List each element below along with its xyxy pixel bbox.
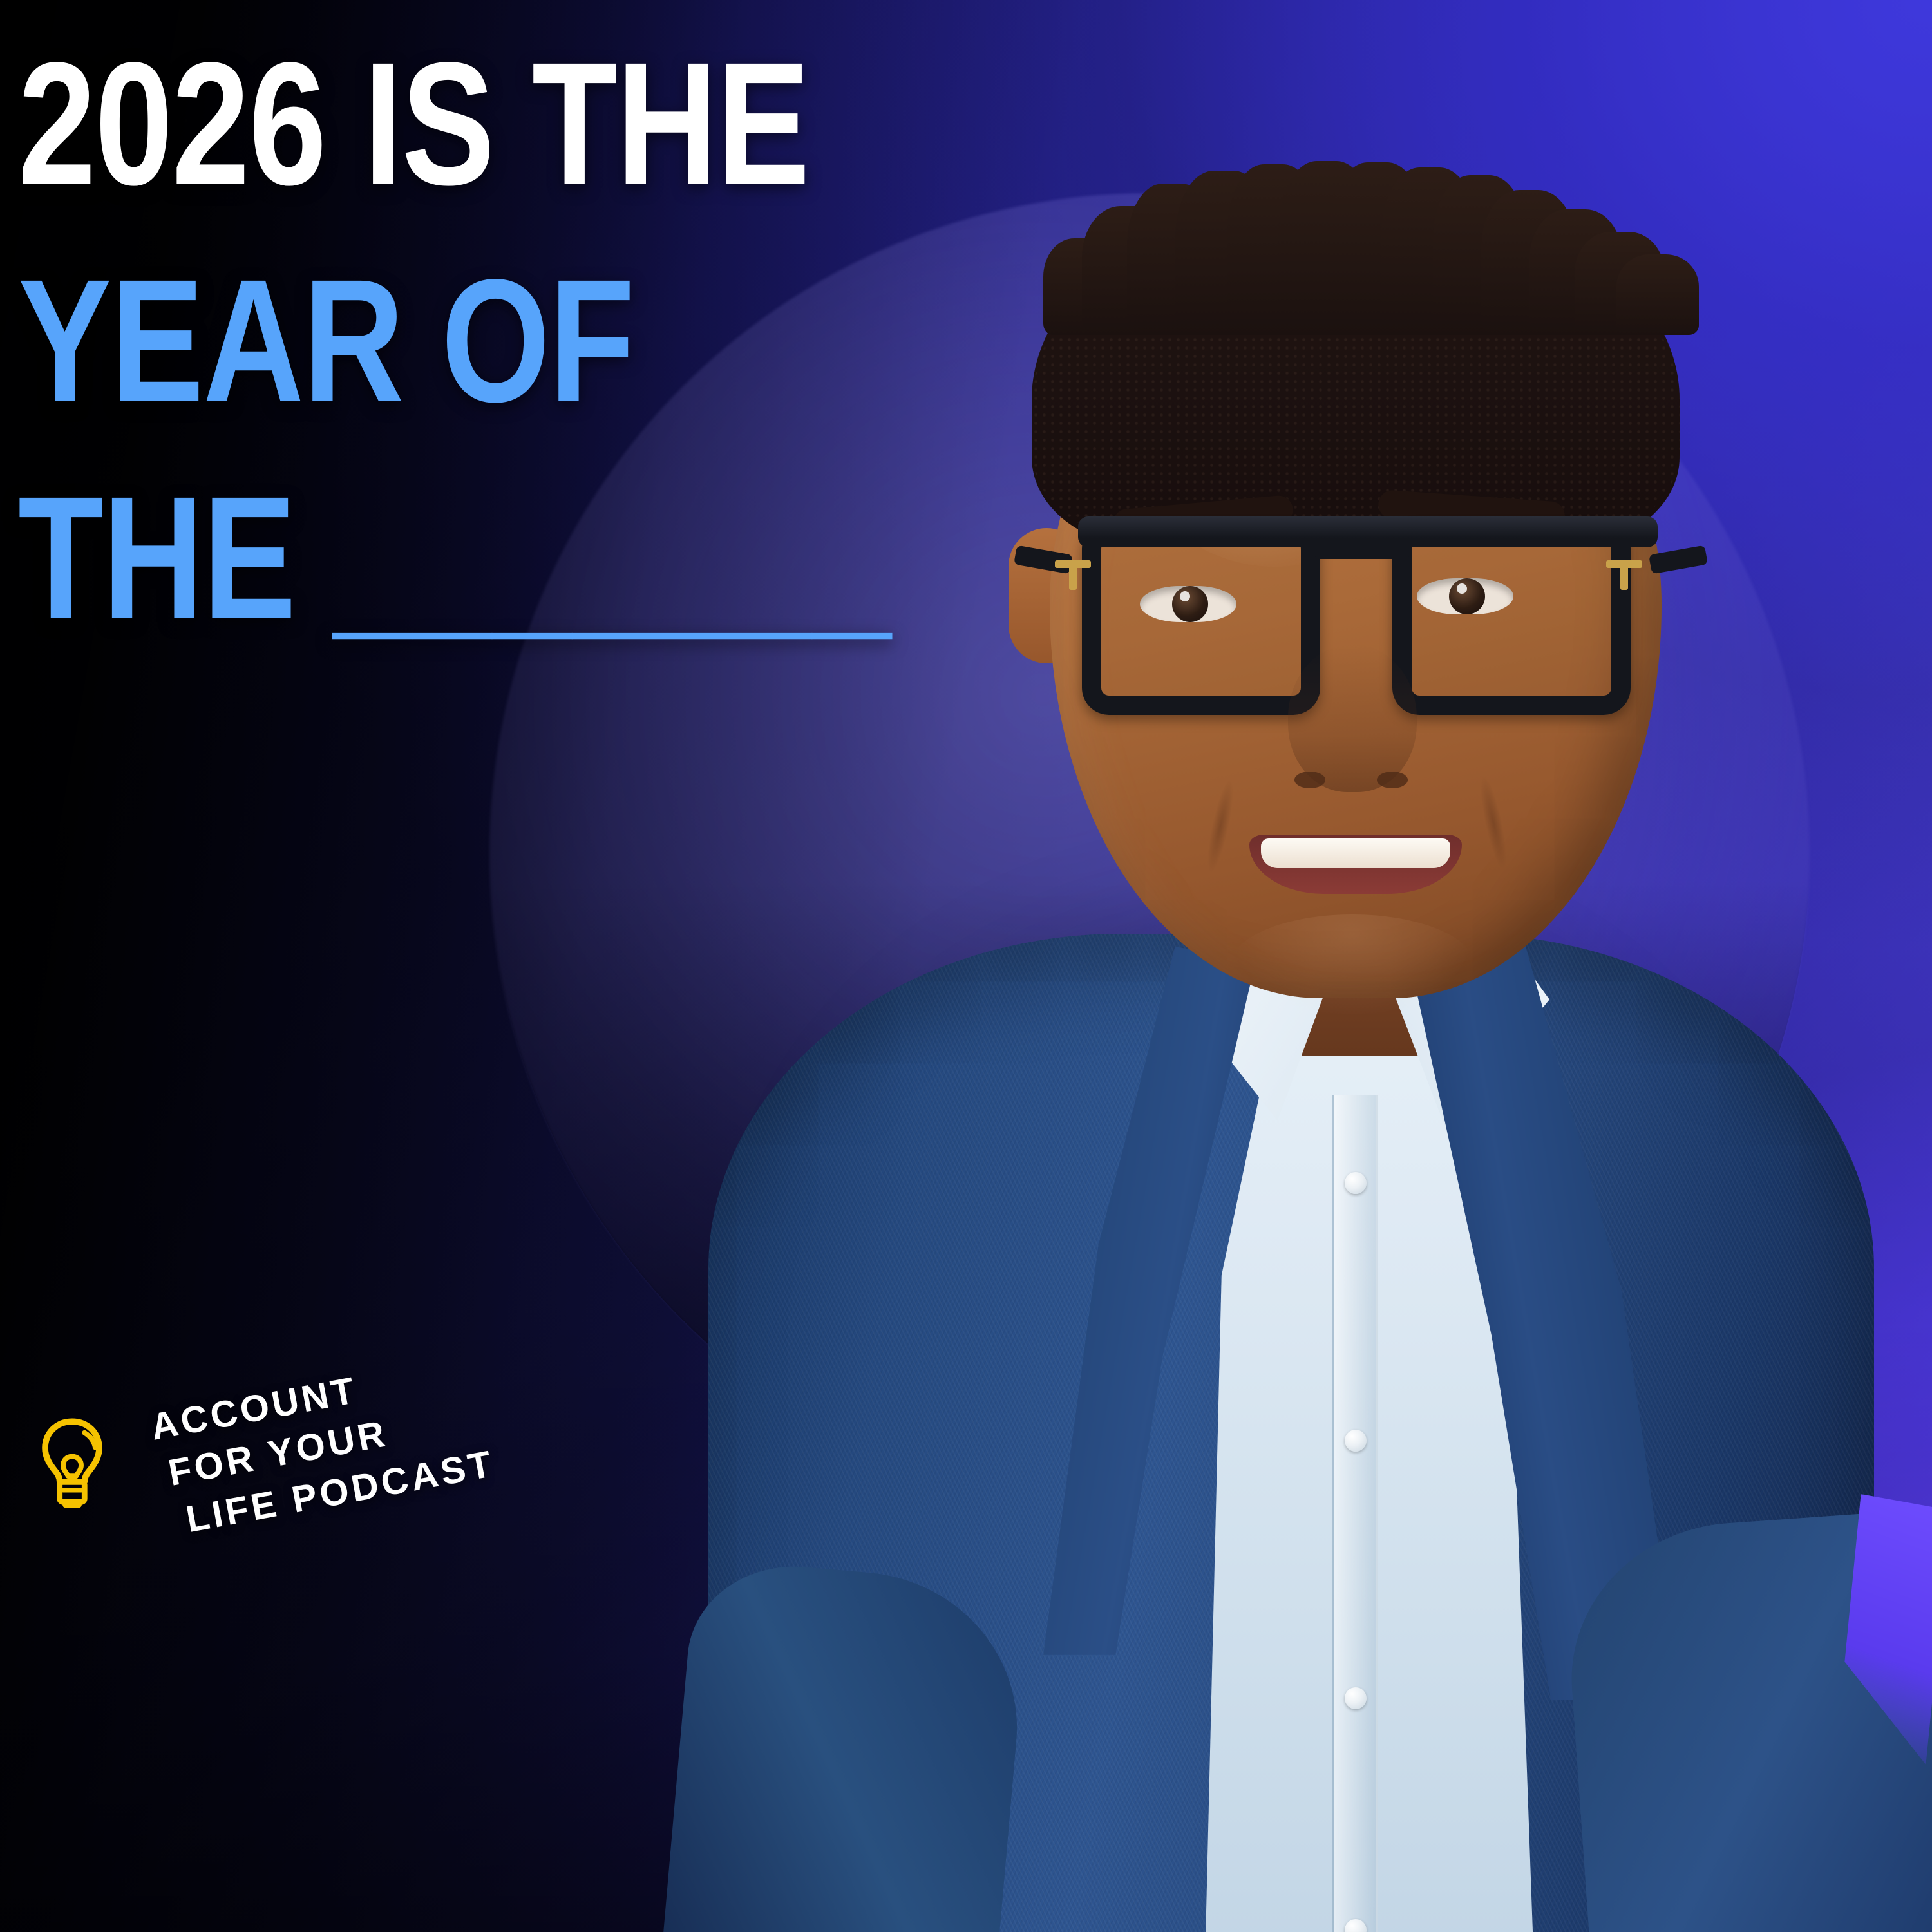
chin-highlight — [1230, 914, 1475, 1018]
lens-right — [1392, 522, 1631, 715]
shirt-button — [1345, 1172, 1367, 1194]
headline-line-1: 2026 IS THE — [18, 40, 1074, 208]
nostril-right — [1377, 772, 1408, 788]
shirt-placket — [1332, 1095, 1378, 1932]
lightbulb-icon — [36, 1416, 108, 1511]
glasses-temple-right — [1649, 545, 1708, 574]
podcast-logo-lockup: ACCOUNT FOR YOUR LIFE PODCAST — [36, 1401, 477, 1549]
headline-line-2: YEAR OF — [18, 257, 1074, 425]
nose — [1288, 644, 1417, 792]
podcast-cover-art: 2026 IS THE YEAR OF THE _______ ACCOUNT … — [0, 0, 1932, 1932]
headline-fill-in-blank: _______ — [333, 474, 893, 642]
cover-headline: 2026 IS THE YEAR OF THE _______ — [18, 40, 1338, 642]
headline-line-3: THE _______ — [18, 474, 1074, 642]
mouth — [1249, 835, 1462, 894]
shirt-button — [1345, 1430, 1367, 1452]
nostril-left — [1294, 772, 1325, 788]
teeth — [1261, 838, 1450, 868]
shirt-button — [1345, 1687, 1367, 1709]
glasses-gold-accent-right — [1606, 560, 1642, 590]
hair-spike — [1616, 254, 1699, 335]
headline-line-3-prefix: THE — [18, 460, 295, 656]
